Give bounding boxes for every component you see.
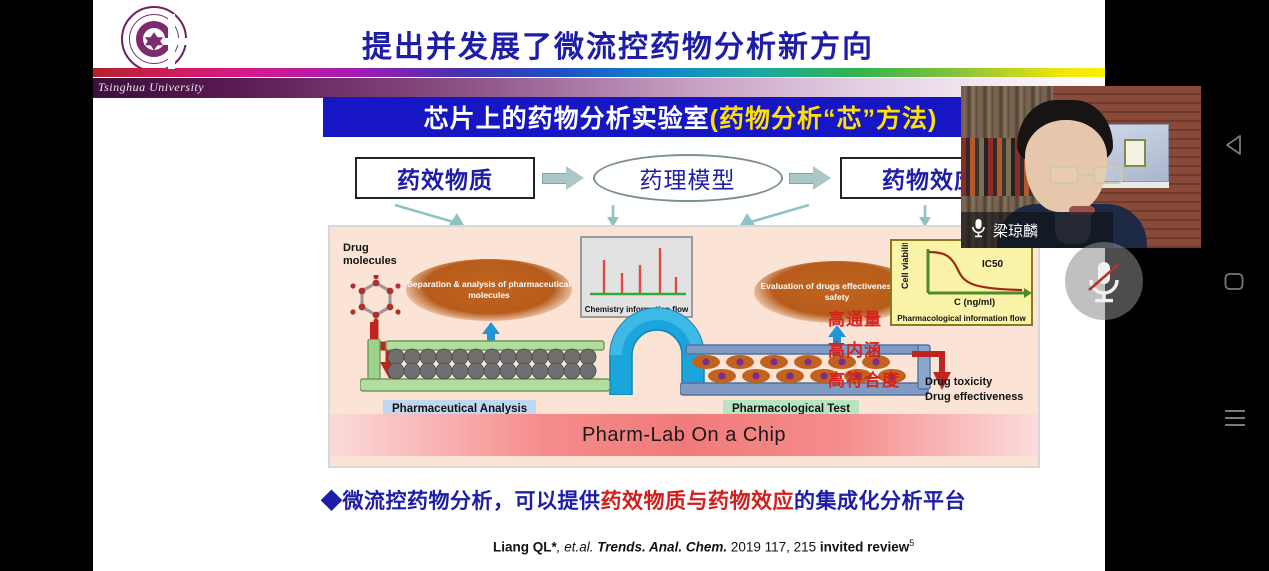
keyword-high-throughput: 高通量 xyxy=(828,305,948,336)
section-banner: 芯片上的药物分析实验室 (药物分析“芯”方法) xyxy=(323,97,1038,137)
flow-arrow-right-icon xyxy=(542,166,586,190)
keyword-high-content: 高内涵 xyxy=(828,336,948,367)
page-title: 提出并发展了微流控药物分析新方向 xyxy=(233,22,1003,66)
bullet-text-highlight: 药效物质与药物效应 xyxy=(601,490,795,513)
pharm-lab-band: Pharm-Lab On a Chip xyxy=(330,414,1038,456)
rounded-square-icon[interactable] xyxy=(1222,270,1246,294)
citation-volume: 2019 117, 215 xyxy=(727,540,820,555)
bullet-text-part1: 微流控药物分析，可以提供 xyxy=(343,490,601,513)
citation-superscript: 5 xyxy=(909,538,914,548)
chemistry-chart xyxy=(586,242,690,298)
banner-accent-text: (药物分析“芯”方法) xyxy=(710,99,938,135)
microphone-muted-icon[interactable] xyxy=(1065,242,1143,320)
keyword-high-conformity: 高符合度 xyxy=(828,366,948,397)
seal-cross-vertical xyxy=(168,14,175,69)
tsinghua-wordmark: Tsinghua University xyxy=(98,80,204,95)
pharmaceutical-analysis-chip xyxy=(360,339,610,401)
participant-face xyxy=(1025,120,1107,212)
molecule-icon xyxy=(346,275,406,323)
citation-line: Liang QL*, et.al. Trends. Anal. Chem. 20… xyxy=(493,538,1053,555)
svg-text:IC50: IC50 xyxy=(982,259,1004,270)
separation-analysis-ellipse: Separation & analysis of pharmaceutical … xyxy=(406,259,572,321)
tsinghua-logo xyxy=(105,5,203,77)
citation-tail: invited review xyxy=(820,540,909,555)
highlight-keywords: 高通量 高内涵 高符合度 xyxy=(828,305,948,397)
tsinghua-seal-icon xyxy=(121,6,187,72)
pharm-lab-text: Pharm-Lab On a Chip xyxy=(582,424,786,447)
citation-journal: Trends. Anal. Chem. xyxy=(597,540,727,555)
ic50-chart: Cell viability (%) C (ng/ml) IC50 xyxy=(894,243,1033,307)
concept-flow-row: 药效物质 药理模型 药物效应 xyxy=(355,152,1020,204)
rainbow-divider xyxy=(93,68,1105,77)
flow-arrow-right-icon-2 xyxy=(789,166,833,190)
purple-band xyxy=(93,78,1105,98)
conclusion-bullet: ◆微流控药物分析，可以提供药效物质与药物效应的集成化分析平台 xyxy=(321,485,1105,515)
triangle-left-icon[interactable] xyxy=(1222,132,1248,158)
participant-video-tile[interactable]: 梁琼麟 xyxy=(961,86,1201,248)
participant-glasses xyxy=(1049,166,1125,184)
drug-molecules-label: Drug molecules xyxy=(343,242,421,267)
flow-ellipse-pharmacology-model: 药理模型 xyxy=(593,154,783,202)
bullet-diamond-icon: ◆ xyxy=(321,490,343,513)
bullet-text-part3: 的集成化分析平台 xyxy=(794,490,966,513)
flow-box-drug-substance: 药效物质 xyxy=(355,157,535,199)
seal-star-icon xyxy=(145,32,163,45)
citation-author: Liang QL xyxy=(493,540,552,555)
app-root: Tsinghua University 提出并发展了微流控药物分析新方向 芯片上… xyxy=(0,0,1269,571)
participant-name: 梁琼麟 xyxy=(993,220,1038,241)
shared-slide: Tsinghua University 提出并发展了微流控药物分析新方向 芯片上… xyxy=(93,0,1105,571)
banner-main-text: 芯片上的药物分析实验室 xyxy=(424,99,710,135)
citation-etal: , et.al. xyxy=(557,540,598,555)
svg-text:C (ng/ml): C (ng/ml) xyxy=(954,297,995,307)
svg-text:Cell viability (%): Cell viability (%) xyxy=(900,243,910,289)
hamburger-menu-icon[interactable] xyxy=(1222,406,1248,430)
microphone-icon xyxy=(971,218,986,243)
